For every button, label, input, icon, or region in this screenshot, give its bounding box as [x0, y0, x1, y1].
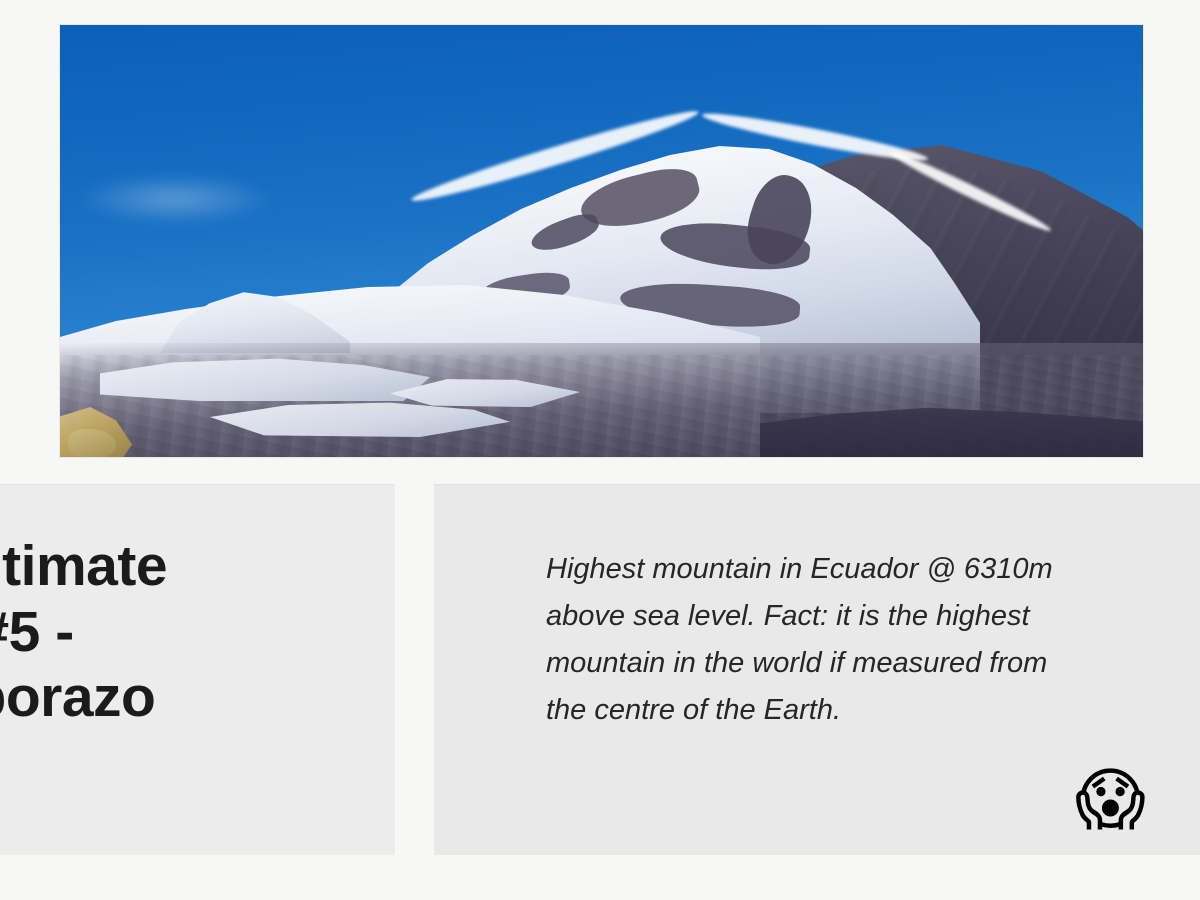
page-title: Our UltimatePeak #5 -Chimborazo — [0, 534, 391, 731]
page-title-line-1: Our Ultimate — [0, 534, 167, 598]
face-screaming-in-fear-emoji: 😱 — [1075, 767, 1146, 835]
page-title-line-3: Chimborazo — [0, 665, 155, 729]
description-line-1: Highest mountain in Ecuador @ 6310m — [546, 546, 1200, 593]
chimborazo-summit-photo — [60, 25, 1143, 457]
title-card: Our UltimatePeak #5 -Chimborazo — [0, 484, 395, 855]
photo-canvas — [60, 25, 1143, 457]
page-root: Our UltimatePeak #5 -Chimborazo Highest … — [0, 0, 1200, 900]
description-line-4: the centre of the Earth. — [546, 687, 1200, 734]
description-line-2: above sea level. Fact: it is the highest — [546, 593, 1200, 640]
description-text: Highest mountain in Ecuador @ 6310m abov… — [546, 546, 1200, 734]
page-title-line-2: Peak #5 - — [0, 600, 74, 664]
description-line-3: mountain in the world if measured from — [546, 640, 1200, 687]
cloud-wisp-left — [80, 175, 270, 223]
ochre-vegetation-patch — [68, 429, 116, 457]
description-card: Highest mountain in Ecuador @ 6310m abov… — [434, 484, 1200, 855]
